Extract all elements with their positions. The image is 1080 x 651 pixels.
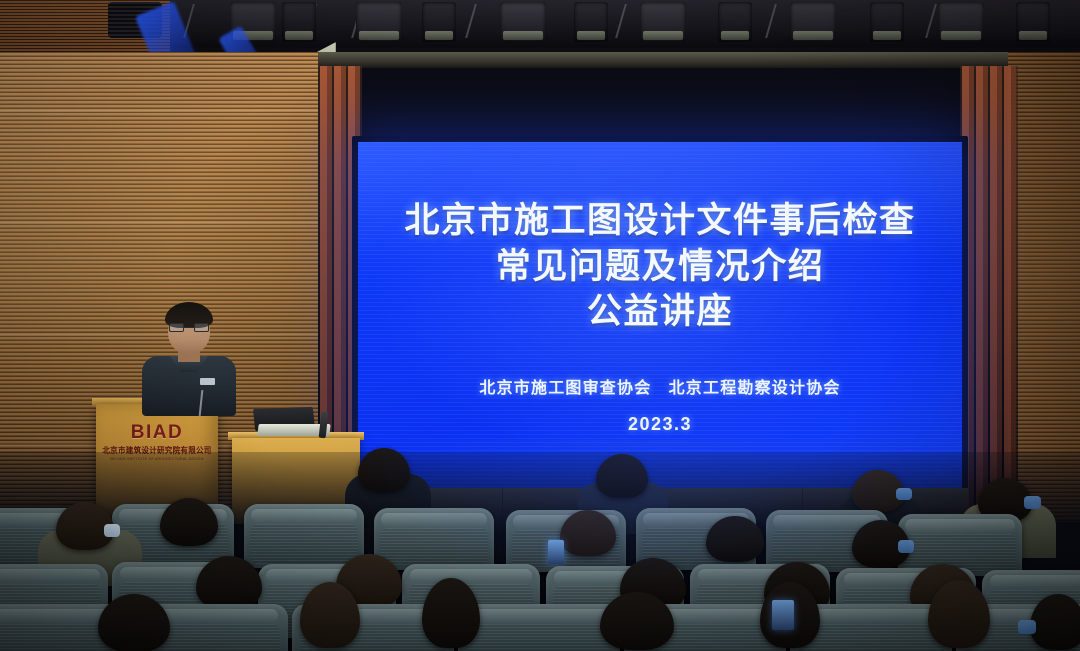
proscenium-header	[318, 52, 1008, 68]
slide-title-line-3: 公益讲座	[587, 289, 733, 335]
stage-spotlight-icon	[356, 2, 402, 42]
smartphone-icon	[548, 540, 564, 564]
stage-spotlight-icon	[282, 2, 316, 42]
led-presentation-screen[interactable]: 北京市施工图设计文件事后检查 常见问题及情况介绍 公益讲座 北京市施工图审查协会…	[358, 142, 962, 488]
stage-spotlight-icon	[1016, 2, 1050, 42]
face-mask-icon	[898, 540, 914, 553]
stage-spotlight-icon	[640, 2, 686, 42]
stage-spotlight-icon	[870, 2, 904, 42]
stage-spotlight-icon	[718, 2, 752, 42]
face-mask-icon	[104, 524, 120, 537]
smartphone-icon	[772, 600, 794, 630]
attendee-head	[706, 516, 764, 562]
ceiling-truss-area	[0, 0, 1080, 60]
audience-area	[0, 452, 1080, 651]
attendee-head	[560, 510, 616, 556]
stage-spotlight-icon	[790, 2, 836, 42]
presenter-badge	[200, 378, 215, 385]
auditorium-seat	[458, 604, 620, 651]
face-mask-icon	[1024, 496, 1041, 509]
auditorium-seat	[898, 514, 1022, 576]
slide-content: 北京市施工图设计文件事后检查 常见问题及情况介绍 公益讲座 北京市施工图审查协会…	[358, 142, 962, 488]
face-mask-icon	[1018, 620, 1036, 634]
face-mask-icon	[896, 488, 912, 500]
slide-organizations: 北京市施工图审查协会 北京工程勘察设计协会	[358, 374, 962, 398]
biad-wordmark: BIAD	[96, 422, 218, 444]
auditorium-seat	[244, 504, 364, 568]
lighting-truss	[170, 0, 1080, 48]
stage-spotlight-icon	[500, 2, 546, 42]
glasses-icon	[169, 323, 209, 332]
presenter	[140, 306, 238, 414]
slide-date: 2023.3	[358, 414, 962, 435]
auditorium-seat	[374, 508, 494, 570]
attendee-head	[596, 454, 648, 498]
attendee-head	[358, 448, 410, 492]
stage-spotlight-icon	[574, 2, 608, 42]
stage-spotlight-icon	[938, 2, 984, 42]
slide-title-line-2: 常见问题及情况介绍	[496, 244, 825, 290]
slide-footer: 北京市施工图审查协会 北京工程勘察设计协会 2023.3	[358, 374, 962, 435]
lecture-hall-photo: 北京市施工图设计文件事后检查 常见问题及情况介绍 公益讲座 北京市施工图审查协会…	[0, 0, 1080, 651]
slide-title-line-1: 北京市施工图设计文件事后检查	[404, 198, 915, 244]
attendee-head	[928, 580, 990, 648]
stage-spotlight-icon	[422, 2, 456, 42]
